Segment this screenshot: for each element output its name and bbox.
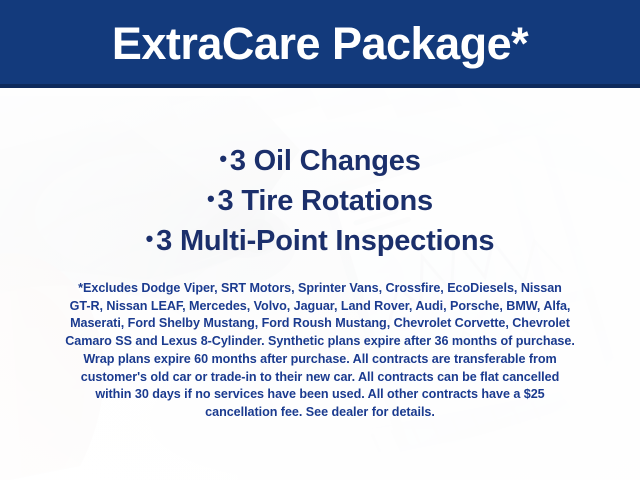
extracare-package-ad: ExtraCare Package* •3 Oil Changes •3 Tir… [0,0,640,480]
bullet-icon: • [207,186,218,211]
bullet-icon: • [146,226,157,251]
benefit-label: 3 Oil Changes [230,145,421,177]
benefit-label: 3 Tire Rotations [218,185,433,217]
main-content: •3 Oil Changes •3 Tire Rotations •3 Mult… [0,92,640,480]
disclaimer-line: cancellation fee. See dealer for details… [28,404,612,422]
benefit-item-oil-changes: •3 Oil Changes [0,140,640,180]
disclaimer-line: *Excludes Dodge Viper, SRT Motors, Sprin… [28,280,612,298]
disclaimer-line: Maserati, Ford Shelby Mustang, Ford Rous… [28,315,612,333]
benefit-label: 3 Multi-Point Inspections [156,225,494,257]
header-band: ExtraCare Package* [0,0,640,88]
disclaimer-line: Camaro SS and Lexus 8-Cylinder. Syntheti… [28,333,612,351]
benefit-item-multi-point-inspections: •3 Multi-Point Inspections [0,220,640,260]
disclaimer-text: *Excludes Dodge Viper, SRT Motors, Sprin… [28,280,612,422]
bullet-icon: • [219,146,230,171]
benefits-list: •3 Oil Changes •3 Tire Rotations •3 Mult… [0,140,640,260]
page-title: ExtraCare Package* [112,21,528,68]
disclaimer-line: Wrap plans expire 60 months after purcha… [28,351,612,369]
disclaimer-line: within 30 days if no services have been … [28,386,612,404]
disclaimer-line: customer's old car or trade-in to their … [28,369,612,387]
disclaimer-line: GT-R, Nissan LEAF, Mercedes, Volvo, Jagu… [28,298,612,316]
benefit-item-tire-rotations: •3 Tire Rotations [0,180,640,220]
